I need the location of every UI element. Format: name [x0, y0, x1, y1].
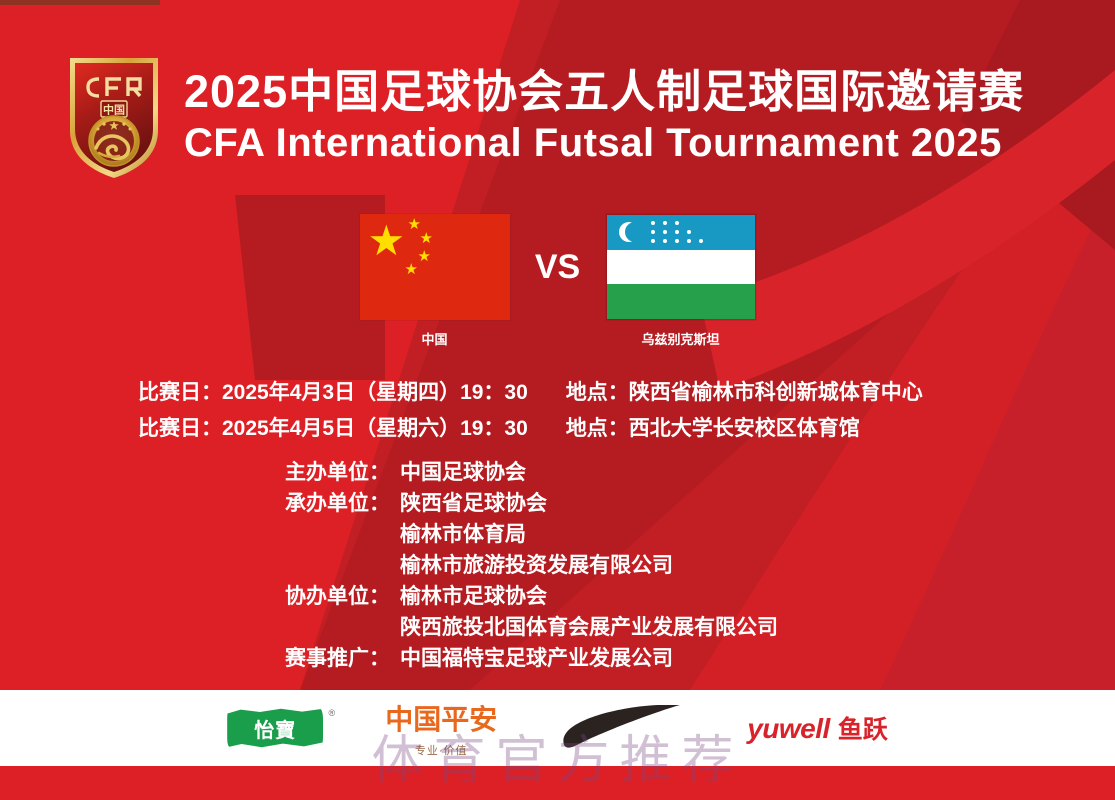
team-away: 乌兹别克斯坦: [606, 214, 756, 348]
page-title-en: CFA International Futsal Tournament 2025: [184, 121, 1024, 166]
flag-star-small-3: ★: [418, 249, 431, 264]
organizer-row: 主办单位： 中国足球协会: [0, 457, 1115, 488]
organizer-row: 承办单位： 陕西省足球协会: [0, 488, 1115, 519]
vs-label: VS: [510, 214, 606, 320]
match-date-label-2: 比赛日：: [138, 411, 222, 447]
watermark-text: 体育官方推荐: [371, 718, 743, 793]
match-venue-value-1: 陕西省榆林市科创新城体育中心: [629, 375, 923, 411]
uz-flag-band-green: [607, 284, 755, 319]
organizer-value: 陕西省足球协会: [400, 488, 547, 519]
match-venue-value-2: 西北大学长安校区体育馆: [629, 411, 860, 447]
sponsor-yuwell-logo: yuwell 鱼跃: [747, 710, 888, 746]
china-flag-icon: ★ ★ ★ ★ ★: [360, 214, 510, 320]
top-accent-strip: [0, 0, 160, 5]
schedule-list: 比赛日： 2025年4月3日（星期四）19：30 地点： 陕西省榆林市科创新城体…: [0, 375, 1115, 447]
team-home-name: 中国: [421, 329, 447, 348]
flag-star-small-2: ★: [420, 231, 433, 246]
cfa-crest-icon: 中国: [66, 52, 162, 182]
match-date-value-1: 2025年4月3日（星期四）19：30: [222, 375, 528, 411]
team-away-name: 乌兹别克斯坦: [641, 329, 719, 348]
page-title-cn: 2025中国足球协会五人制足球国际邀请赛: [184, 68, 1024, 117]
match-venue-label-2: 地点：: [566, 411, 629, 447]
organizer-row: 承办单位： 榆林市体育局: [0, 519, 1115, 550]
organizer-value: 中国福特宝足球产业发展公司: [400, 643, 673, 674]
organizer-label: 承办单位：: [268, 488, 390, 519]
match-venue-label-1: 地点：: [566, 375, 629, 411]
title-block: 2025中国足球协会五人制足球国际邀请赛 CFA International F…: [184, 68, 1024, 165]
organizer-value: 榆林市体育局: [400, 519, 526, 550]
flag-star-small-1: ★: [408, 217, 421, 232]
poster-header: 中国 2025中国足球协会五人制足球国际邀请赛 CFA Internationa…: [0, 52, 1115, 182]
yibao-label: 怡寶: [227, 708, 323, 748]
schedule-row: 比赛日： 2025年4月5日（星期六）19：30 地点： 西北大学长安校区体育馆: [0, 411, 1115, 447]
crescent-icon: [619, 222, 639, 242]
match-block: ★ ★ ★ ★ ★ 中国 VS: [0, 214, 1115, 348]
organizer-value: 榆林市足球协会: [400, 581, 547, 612]
match-date-value-2: 2025年4月5日（星期六）19：30: [222, 411, 528, 447]
organizer-list: 主办单位： 中国足球协会 承办单位： 陕西省足球协会 承办单位： 榆林市体育局 …: [0, 457, 1115, 674]
organizer-value: 陕西旅投北国体育会展产业发展有限公司: [400, 612, 778, 643]
poster-root: 中国 2025中国足球协会五人制足球国际邀请赛 CFA Internationa…: [0, 0, 1115, 800]
organizer-value: 榆林市旅游投资发展有限公司: [400, 550, 673, 581]
organizer-row: 协办单位： 榆林市足球协会: [0, 581, 1115, 612]
sponsor-yibao-logo: 怡寶 ®: [227, 708, 323, 748]
team-home: ★ ★ ★ ★ ★ 中国: [360, 214, 510, 348]
schedule-row: 比赛日： 2025年4月3日（星期四）19：30 地点： 陕西省榆林市科创新城体…: [0, 375, 1115, 411]
organizer-label: 协办单位：: [268, 581, 390, 612]
uz-flag-band-white: [607, 250, 755, 285]
uzbekistan-flag-icon: [606, 214, 756, 320]
yuwell-label-en: yuwell: [747, 713, 830, 745]
organizer-label: 赛事推广：: [268, 643, 390, 674]
uz-flag-band-blue: [607, 215, 755, 250]
yuwell-label-cn: 鱼跃: [838, 710, 888, 746]
organizer-row: 赛事推广： 中国福特宝足球产业发展公司: [0, 643, 1115, 674]
organizer-row: 承办单位： 榆林市旅游投资发展有限公司: [0, 550, 1115, 581]
flag-star-large: ★: [368, 220, 406, 262]
match-date-label-1: 比赛日：: [138, 375, 222, 411]
organizer-label: 主办单位：: [268, 457, 390, 488]
registered-trademark-icon: ®: [329, 708, 336, 718]
flag-star-small-4: ★: [405, 262, 418, 277]
organizer-row: 协办单位： 陕西旅投北国体育会展产业发展有限公司: [0, 612, 1115, 643]
svg-text:中国: 中国: [103, 103, 125, 117]
organizer-value: 中国足球协会: [400, 457, 526, 488]
